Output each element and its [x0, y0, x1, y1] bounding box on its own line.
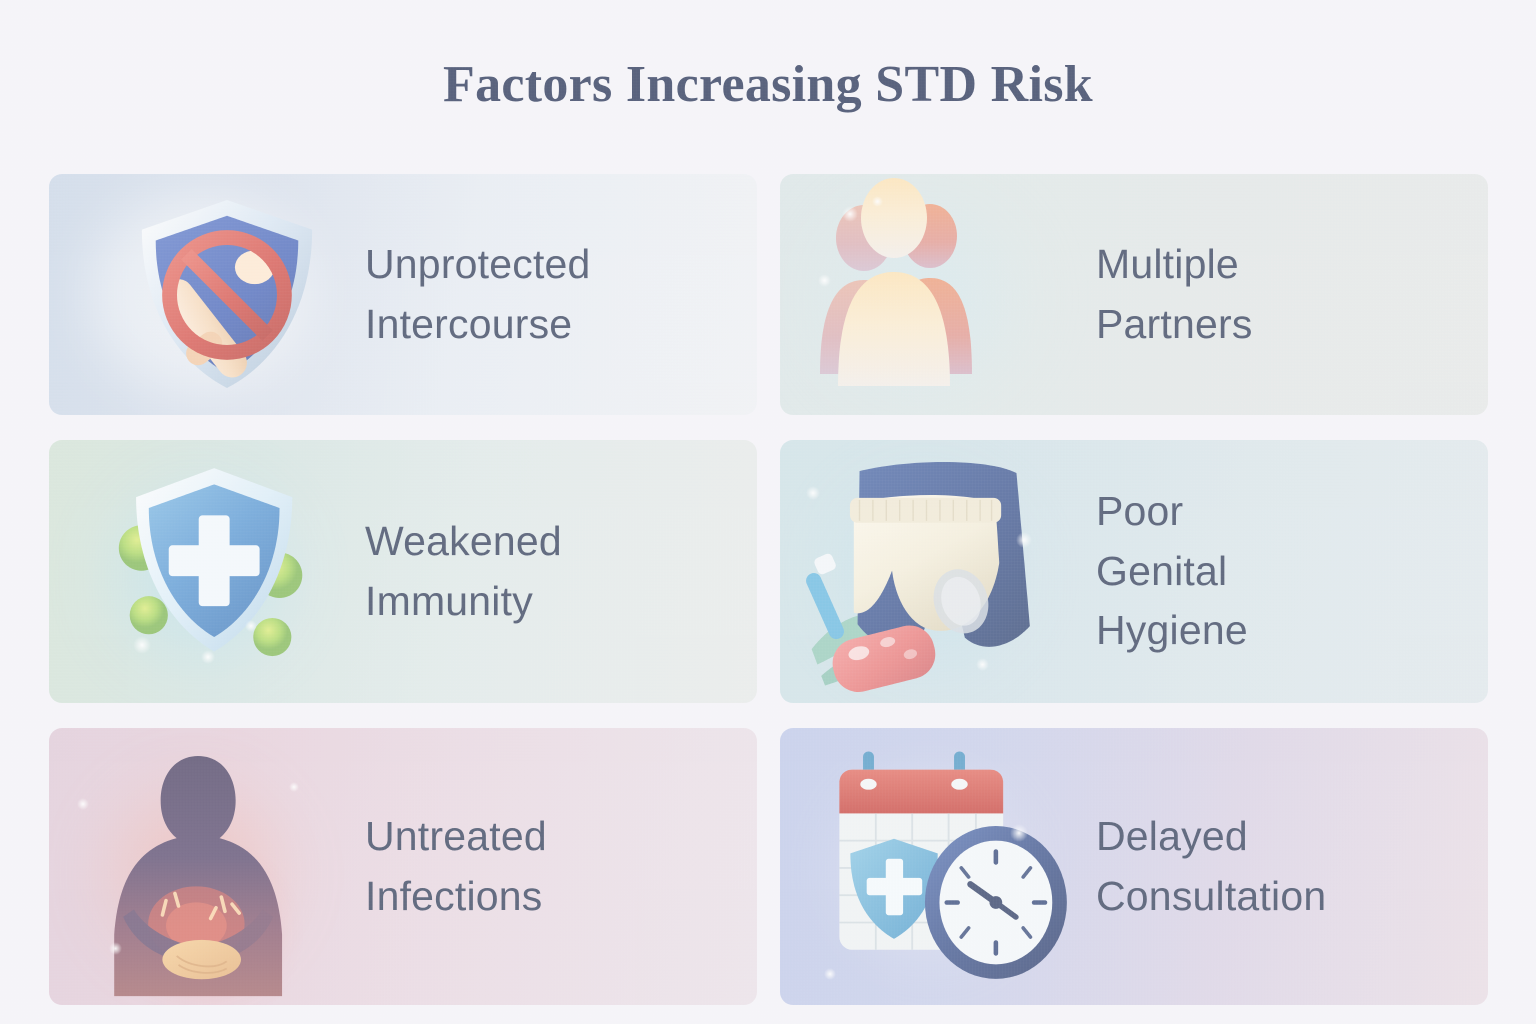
- card-label-multiple-partners: Multiple Partners: [1080, 235, 1253, 354]
- calendar-clock-shield-icon: [780, 728, 1080, 1005]
- card-multiple-partners[interactable]: Multiple Partners: [780, 174, 1488, 415]
- card-label-weakened-immunity: Weakened Immunity: [349, 512, 562, 631]
- page-title: Factors Increasing STD Risk: [0, 55, 1536, 114]
- shield-medical-cross-germs-icon: [49, 440, 349, 703]
- card-label-delayed-consultation: Delayed Consultation: [1080, 807, 1326, 926]
- card-label-untreated-infections: Untreated Infections: [349, 807, 547, 926]
- card-weakened-immunity[interactable]: Weakened Immunity: [49, 440, 757, 703]
- person-abdominal-pain-icon: [49, 728, 349, 1005]
- card-poor-genital-hygiene[interactable]: Poor Genital Hygiene: [780, 440, 1488, 703]
- card-untreated-infections[interactable]: Untreated Infections: [49, 728, 757, 1005]
- underwear-soap-hygiene-icon: [780, 440, 1080, 703]
- card-unprotected-intercourse[interactable]: Unprotected Intercourse: [49, 174, 757, 415]
- card-calendar-clock-shield[interactable]: Delayed Consultation: [780, 728, 1488, 1005]
- card-label-poor-genital-hygiene: Poor Genital Hygiene: [1080, 482, 1248, 660]
- card-label-unprotected-intercourse: Unprotected Intercourse: [349, 235, 591, 354]
- factors-grid: Unprotected Intercourse: [49, 174, 1488, 1005]
- three-people-group-icon: [780, 174, 1080, 415]
- shield-prohibition-condom-icon: [49, 174, 349, 415]
